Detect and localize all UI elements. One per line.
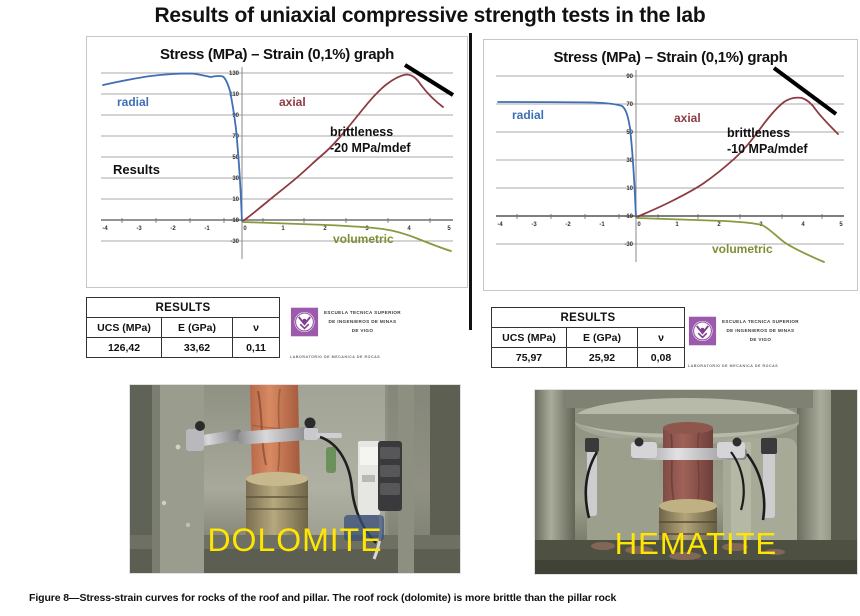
right-brittleness-slope-bar — [774, 68, 836, 114]
left-panel: Stress (MPa) – Strain (0,1%) graph — [86, 36, 468, 288]
svg-text:2: 2 — [323, 226, 327, 232]
svg-text:-2: -2 — [565, 222, 571, 228]
logo-line-2: DE INGENIEROS DE MINAS — [722, 327, 799, 336]
right-brittleness-line2: -10 MPa/mdef — [727, 142, 808, 158]
university-crest-icon — [688, 316, 717, 346]
left-results-table: RESULTS UCS (MPa) E (GPa) ν 126,42 33,62… — [86, 297, 280, 358]
svg-text:5: 5 — [447, 226, 451, 232]
university-crest-icon — [290, 307, 319, 337]
svg-text:0: 0 — [637, 222, 641, 228]
left-results-table-wrap: RESULTS UCS (MPa) E (GPa) ν 126,42 33,62… — [86, 297, 280, 358]
svg-text:70: 70 — [626, 102, 633, 108]
right-photo-hematite: HEMATITE — [534, 389, 858, 575]
logo-line-1: ESCUELA TECNICA SUPERIOR — [324, 309, 401, 318]
svg-text:10: 10 — [232, 197, 239, 203]
svg-text:30: 30 — [232, 176, 239, 182]
svg-text:4: 4 — [801, 222, 805, 228]
right-header-ucs: UCS (MPa) — [492, 328, 567, 348]
logo-line-2: DE INGENIEROS DE MINAS — [324, 318, 401, 327]
svg-text:130: 130 — [229, 71, 240, 77]
logo-text-block: ESCUELA TECNICA SUPERIOR DE INGENIEROS D… — [324, 307, 401, 336]
left-value-ucs: 126,42 — [87, 338, 162, 358]
svg-text:10: 10 — [626, 186, 633, 192]
logo-text-block: ESCUELA TECNICA SUPERIOR DE INGENIEROS D… — [722, 316, 799, 345]
left-value-e: 33,62 — [162, 338, 233, 358]
left-value-nu: 0,11 — [233, 338, 280, 358]
svg-text:-1: -1 — [599, 222, 605, 228]
right-radial-label: radial — [512, 108, 544, 122]
table-row: UCS (MPa) E (GPa) ν — [492, 328, 685, 348]
left-results-title: RESULTS — [87, 298, 280, 318]
right-plot-area: 90 70 50 30 10 -10 -30 -4 -3 -2 -1 0 — [484, 66, 857, 266]
table-row: RESULTS — [87, 298, 280, 318]
left-header-ucs: UCS (MPa) — [87, 318, 162, 338]
right-axial-label: axial — [674, 111, 701, 125]
left-photo-caption: DOLOMITE — [130, 522, 460, 559]
left-photo-dolomite: DOLOMITE — [129, 384, 461, 574]
logo-line-3: DE VIGO — [324, 327, 401, 336]
right-header-e: E (GPa) — [567, 328, 638, 348]
figure-root: Results of uniaxial compressive strength… — [0, 0, 860, 616]
left-plot-area: 130 110 90 70 50 30 10 -10 -30 -4 -3 — [87, 63, 467, 263]
logo-line-1: ESCUELA TECNICA SUPERIOR — [722, 318, 799, 327]
left-logo-sub: LABORATORIO DE MECANICA DE ROCAS — [290, 355, 380, 359]
panel-divider — [469, 33, 472, 330]
left-brittleness-line1: brittleness — [330, 125, 393, 141]
left-header-nu: ν — [233, 318, 280, 338]
right-value-ucs: 75,97 — [492, 348, 567, 368]
right-logo-sub: LABORATORIO DE MECANICA DE ROCAS — [688, 364, 778, 368]
right-results-table-wrap: RESULTS UCS (MPa) E (GPa) ν 75,97 25,92 … — [491, 307, 685, 368]
table-row: UCS (MPa) E (GPa) ν — [87, 318, 280, 338]
svg-text:5: 5 — [839, 222, 843, 228]
svg-text:-3: -3 — [136, 226, 142, 232]
svg-text:2: 2 — [717, 222, 721, 228]
page-title: Results of uniaxial compressive strength… — [0, 4, 860, 28]
right-header-nu: ν — [638, 328, 685, 348]
right-chart-svg: 90 70 50 30 10 -10 -30 -4 -3 -2 -1 0 — [484, 66, 857, 266]
left-chart-box: Stress (MPa) – Strain (0,1%) graph — [86, 36, 468, 288]
left-brittleness-line2: -20 MPa/mdef — [330, 141, 411, 157]
table-row: 75,97 25,92 0,08 — [492, 348, 685, 368]
table-row: RESULTS — [492, 308, 685, 328]
right-volumetric-label: volumetric — [712, 242, 773, 256]
left-brittleness-slope-bar — [405, 65, 453, 95]
left-results-label: Results — [113, 162, 160, 177]
left-chart-title: Stress (MPa) – Strain (0,1%) graph — [87, 37, 467, 63]
right-results-title: RESULTS — [492, 308, 685, 328]
right-university-logo: ESCUELA TECNICA SUPERIOR DE INGENIEROS D… — [688, 316, 799, 346]
svg-text:0: 0 — [243, 226, 247, 232]
right-brittleness-line1: brittleness — [727, 126, 790, 142]
table-row: 126,42 33,62 0,11 — [87, 338, 280, 358]
svg-text:-30: -30 — [624, 242, 633, 248]
left-volumetric-label: volumetric — [333, 232, 394, 246]
right-value-nu: 0,08 — [638, 348, 685, 368]
left-header-e: E (GPa) — [162, 318, 233, 338]
right-chart-box: Stress (MPa) – Strain (0,1%) graph 90 — [483, 39, 858, 291]
svg-text:-10: -10 — [624, 214, 633, 220]
right-value-e: 25,92 — [567, 348, 638, 368]
svg-text:1: 1 — [675, 222, 679, 228]
svg-text:-4: -4 — [102, 226, 108, 232]
right-photo-caption: HEMATITE — [535, 526, 857, 562]
left-university-logo: ESCUELA TECNICA SUPERIOR DE INGENIEROS D… — [290, 307, 401, 337]
svg-text:-10: -10 — [230, 218, 239, 224]
logo-line-3: DE VIGO — [722, 336, 799, 345]
svg-text:90: 90 — [626, 74, 633, 80]
svg-text:-1: -1 — [204, 226, 210, 232]
svg-text:1: 1 — [281, 226, 285, 232]
right-results-table: RESULTS UCS (MPa) E (GPa) ν 75,97 25,92 … — [491, 307, 685, 368]
svg-text:-30: -30 — [230, 239, 239, 245]
left-axial-label: axial — [279, 95, 306, 109]
svg-text:-3: -3 — [531, 222, 537, 228]
svg-text:-2: -2 — [170, 226, 176, 232]
left-radial-label: radial — [117, 95, 149, 109]
right-chart-title: Stress (MPa) – Strain (0,1%) graph — [484, 40, 857, 66]
figure-caption: Figure 8—Stress-strain curves for rocks … — [29, 592, 829, 604]
right-panel: Stress (MPa) – Strain (0,1%) graph 90 — [483, 39, 858, 291]
svg-text:-4: -4 — [497, 222, 503, 228]
svg-text:4: 4 — [407, 226, 411, 232]
